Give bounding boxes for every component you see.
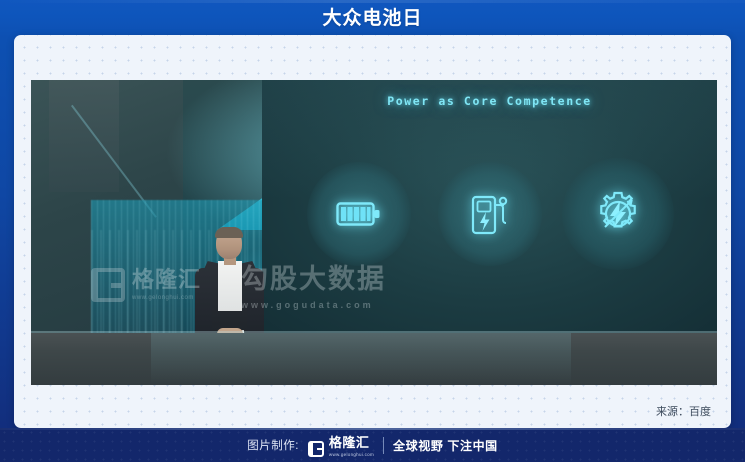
presenter-right-arm — [247, 268, 264, 340]
footer-bar: 图片制作: 格隆汇 www.gelonghui.com 全球视野 下注中国 — [0, 428, 745, 462]
page-title: 大众电池日 — [0, 0, 745, 38]
icon-disc-battery — [307, 162, 411, 266]
footer-divider — [383, 437, 384, 454]
footer-slogan: 全球视野 下注中国 — [393, 437, 498, 454]
stage-floor-reflection — [151, 333, 571, 385]
icon-disc-charging-station — [438, 162, 542, 266]
battery-icon — [336, 200, 382, 228]
footer-brand-url: www.gelonghui.com — [329, 452, 374, 457]
footer-brand-logo: 格隆汇 www.gelonghui.com — [308, 434, 374, 457]
presenter-shirt — [218, 261, 242, 311]
icon-disc-gear-bolt — [562, 158, 674, 270]
footer-credit: 图片制作: 格隆汇 www.gelonghui.com 全球视野 下注中国 — [0, 428, 745, 462]
presentation-screen: Power as Core Competence — [262, 80, 717, 340]
content-card: Power as Core Competence — [14, 35, 731, 428]
photo-inner: Power as Core Competence — [31, 80, 717, 385]
gear-bolt-icon — [593, 189, 643, 239]
footer-brand-name: 格隆汇 — [329, 435, 370, 450]
screen-headline: Power as Core Competence — [262, 94, 717, 108]
source-attribution: 来源：百度 — [656, 403, 711, 419]
stage-floor — [31, 333, 717, 385]
ev-charging-station-icon — [470, 192, 510, 236]
screen-icon-row — [262, 158, 717, 288]
presentation-photo: Power as Core Competence — [31, 80, 717, 385]
presenter-left-arm — [195, 268, 212, 340]
gelonghui-logo-icon — [308, 441, 324, 457]
credit-label: 图片制作: — [247, 437, 299, 453]
presenter-hair — [215, 227, 243, 238]
page-root: 大众电池日 Power as Core Competence — [0, 0, 745, 462]
